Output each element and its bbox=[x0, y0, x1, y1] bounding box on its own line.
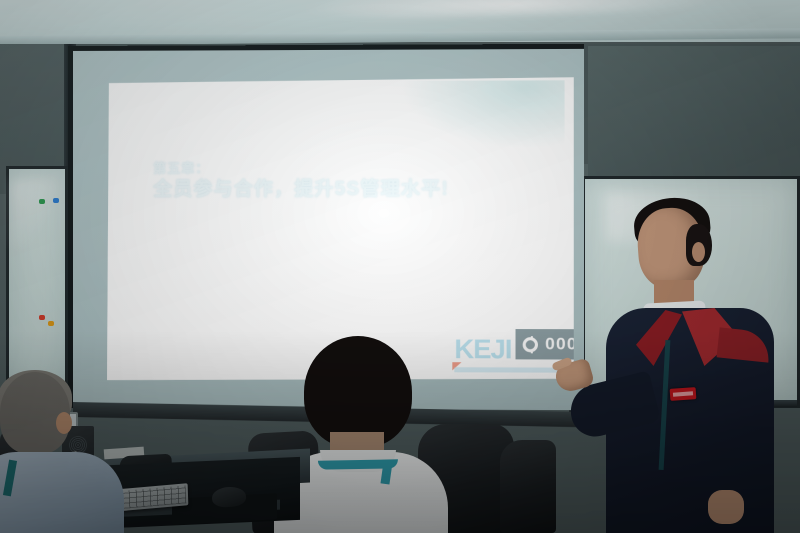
whiteboard-left bbox=[6, 166, 68, 394]
presenter-logo-badge bbox=[670, 387, 697, 401]
slide-text-block: 第五章： 全员参与合作，提升5S管理水平! bbox=[153, 160, 558, 201]
whiteboard-left-sheen bbox=[12, 180, 60, 247]
presenter-lower-hand bbox=[708, 490, 744, 524]
slide-heading: 第五章： bbox=[153, 160, 558, 177]
chair bbox=[500, 440, 556, 533]
magnet-red bbox=[39, 315, 45, 320]
projector-hotspot bbox=[405, 80, 565, 147]
magnet-green bbox=[39, 199, 45, 204]
presenter-ear bbox=[692, 242, 705, 262]
magnet-blue bbox=[53, 198, 59, 203]
audience-left-ear bbox=[56, 412, 72, 434]
presenter bbox=[600, 190, 780, 533]
magnet-orange bbox=[48, 321, 54, 326]
wall-panel-right bbox=[588, 46, 800, 186]
gear-icon bbox=[523, 337, 538, 352]
audience-member-left bbox=[0, 372, 110, 533]
slide-logo-underline bbox=[454, 367, 568, 372]
audience-left-shirt bbox=[0, 452, 124, 533]
slide-subheading: 全员参与合作，提升5S管理水平! bbox=[153, 177, 558, 201]
ceiling-glare bbox=[300, 0, 721, 21]
conference-room-photo: 第五章： 全员参与合作，提升5S管理水平! KEJI 000 : 33 bbox=[0, 0, 800, 533]
slide-brand-logo: KEJI bbox=[454, 334, 511, 365]
